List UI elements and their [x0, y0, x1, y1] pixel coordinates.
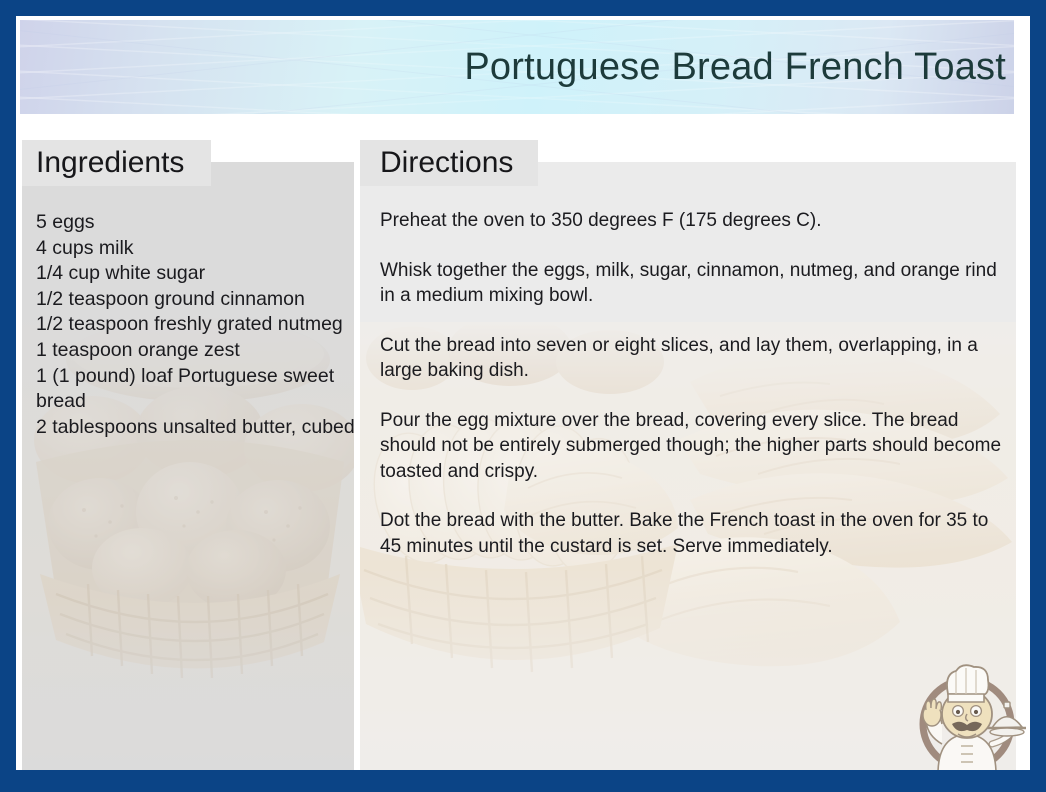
ingredients-panel: 5 eggs 4 cups milk 1/4 cup white sugar 1…	[22, 162, 354, 770]
slide-content-area: Portuguese Bread French Toast	[16, 16, 1030, 770]
section-header-directions: Directions	[360, 140, 538, 186]
direction-step: Preheat the oven to 350 degrees F (175 d…	[380, 208, 1004, 234]
section-header-ingredients: Ingredients	[22, 140, 211, 186]
direction-step: Whisk together the eggs, milk, sugar, ci…	[380, 258, 1004, 309]
ingredient-item: 4 cups milk	[36, 236, 354, 262]
ingredient-item: 1 (1 pound) loaf Portuguese sweet bread	[36, 364, 354, 415]
ingredient-item: 1/2 teaspoon freshly grated nutmeg	[36, 312, 354, 338]
title-banner: Portuguese Bread French Toast	[20, 20, 1014, 114]
direction-step: Dot the bread with the butter. Bake the …	[380, 508, 1004, 559]
ingredients-list: 5 eggs 4 cups milk 1/4 cup white sugar 1…	[36, 210, 354, 440]
recipe-slide: Portuguese Bread French Toast	[0, 0, 1046, 792]
ingredient-item: 1/2 teaspoon ground cinnamon	[36, 287, 354, 313]
ingredient-item: 1/4 cup white sugar	[36, 261, 354, 287]
direction-step: Cut the bread into seven or eight slices…	[380, 333, 1004, 384]
ingredient-item: 2 tablespoons unsalted butter, cubed	[36, 415, 354, 441]
directions-steps: Preheat the oven to 350 degrees F (175 d…	[380, 208, 1004, 559]
chef-mascot-logo	[908, 658, 1026, 774]
page-title: Portuguese Bread French Toast	[464, 48, 1006, 86]
cloche-icon	[988, 702, 1026, 736]
ingredient-item: 1 teaspoon orange zest	[36, 338, 354, 364]
ingredient-item: 5 eggs	[36, 210, 354, 236]
directions-heading: Directions	[380, 148, 513, 178]
direction-step: Pour the egg mixture over the bread, cov…	[380, 408, 1004, 485]
ingredients-heading: Ingredients	[36, 148, 184, 178]
